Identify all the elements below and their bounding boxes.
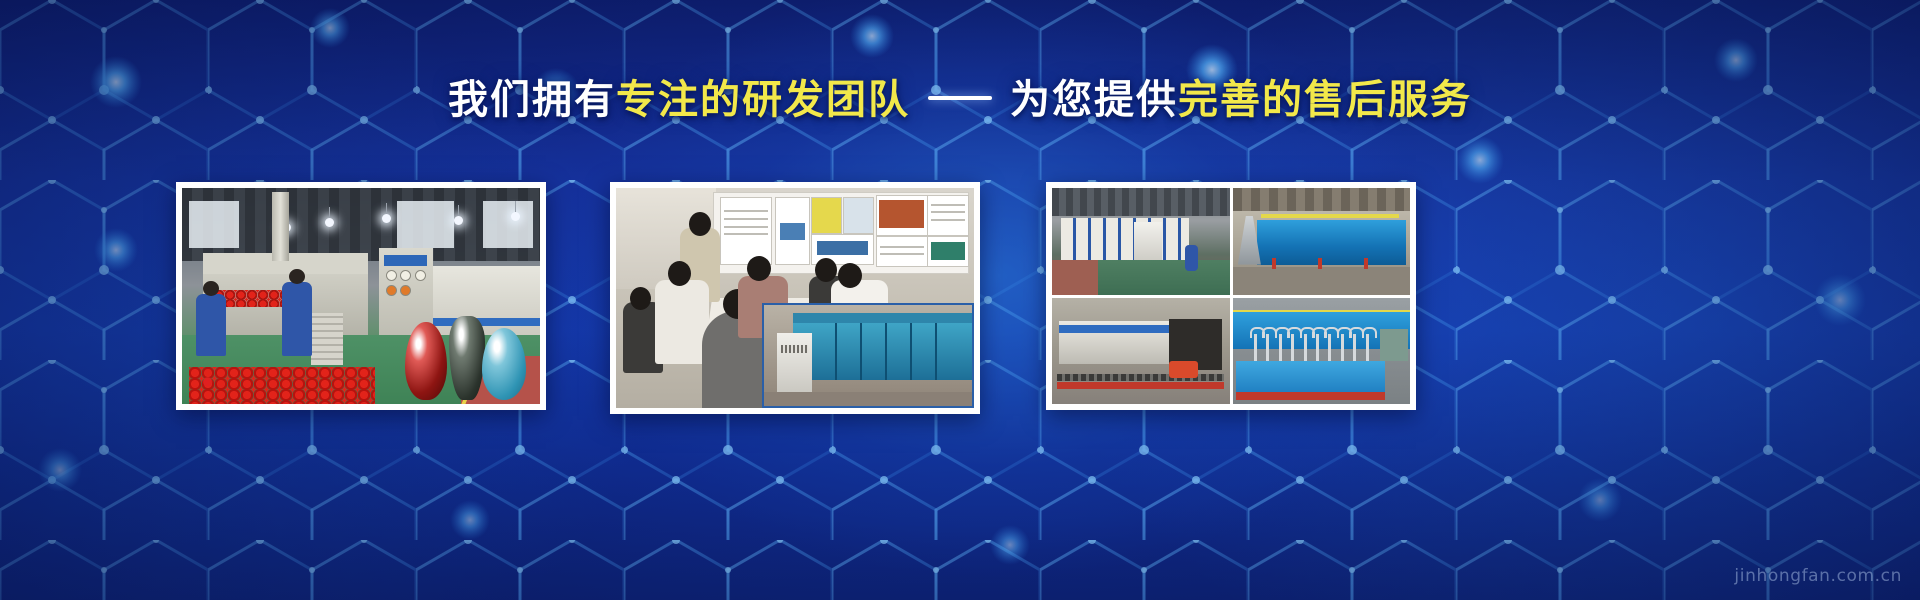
collage-panel-1 bbox=[1052, 188, 1230, 295]
collage-panel-2 bbox=[1233, 188, 1411, 295]
photo-card-row bbox=[0, 182, 1920, 414]
photo-production-line-image bbox=[182, 188, 540, 404]
photo-equipment-collage-image bbox=[1052, 188, 1410, 404]
headline-segment-3: 为您提供 bbox=[1010, 77, 1178, 123]
photo-card-production-line[interactable] bbox=[176, 182, 546, 410]
promo-banner: 我们拥有专注的研发团队为您提供完善的售后服务 bbox=[0, 0, 1920, 600]
photo-card-equipment-collage[interactable] bbox=[1046, 182, 1416, 410]
photo-card-team-meeting[interactable] bbox=[610, 182, 980, 414]
headline: 我们拥有专注的研发团队为您提供完善的售后服务 bbox=[0, 80, 1920, 120]
inset-machine-photo bbox=[762, 303, 974, 408]
headline-segment-1: 我们拥有 bbox=[448, 77, 616, 123]
collage-panel-4 bbox=[1233, 298, 1411, 405]
site-watermark: jinhongfan.com.cn bbox=[1734, 566, 1902, 586]
headline-divider-dash bbox=[928, 96, 992, 100]
photo-team-meeting-image bbox=[616, 188, 974, 408]
headline-segment-2: 专注的研发团队 bbox=[616, 77, 910, 123]
headline-segment-4: 完善的售后服务 bbox=[1178, 77, 1472, 123]
collage-panel-3 bbox=[1052, 298, 1230, 405]
